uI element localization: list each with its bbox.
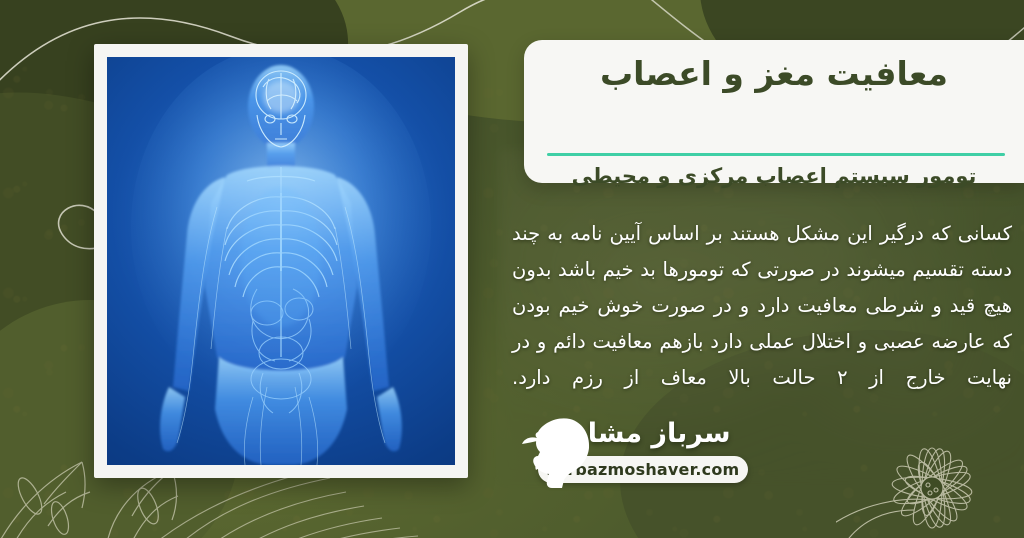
- human-body-xray-illustration: [107, 57, 455, 465]
- soldier-head-silhouette-icon: [516, 416, 592, 490]
- title-divider: [547, 153, 1005, 156]
- title-card: معافیت مغز و اعصاب تومور سیستم اعصاب مرک…: [524, 40, 1024, 183]
- body-paragraph: کسانی که درگیر این مشکل هستند بر اساس آی…: [512, 216, 1012, 396]
- page-subtitle: تومور سیستم اعصاب مرکزی و محیطی: [552, 164, 996, 188]
- photo-vignette: [107, 57, 455, 465]
- illustration-frame: [94, 44, 468, 478]
- logo[interactable]: سرباز مشاور sarbazmoshaver.com: [520, 418, 810, 490]
- poster-canvas: معافیت مغز و اعصاب تومور سیستم اعصاب مرک…: [0, 0, 1024, 538]
- page-title: معافیت مغز و اعصاب: [552, 54, 996, 94]
